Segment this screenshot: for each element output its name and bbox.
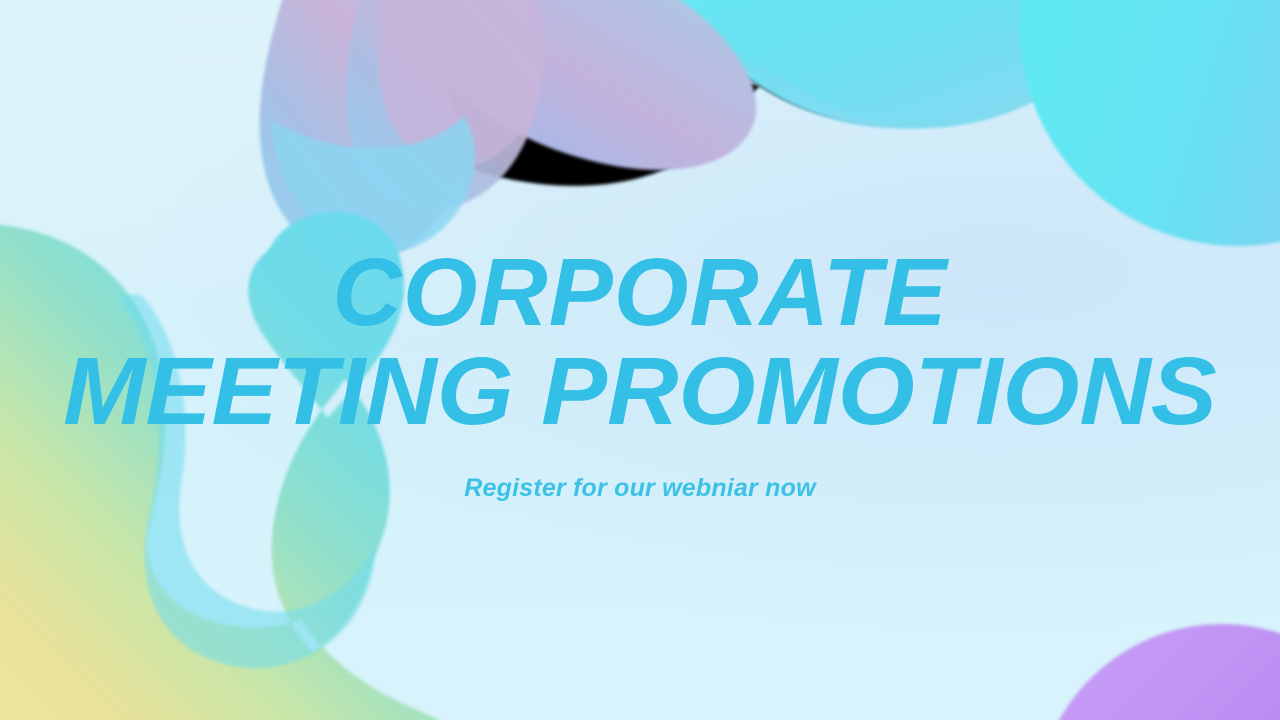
top-lavender-blob-tail — [260, 0, 461, 261]
top-cyan-blob-body — [244, 0, 1146, 129]
promo-banner: CORPORATE MEETING PROMOTIONS Register fo… — [0, 0, 1280, 720]
subtitle-text: Register for our webniar now — [0, 474, 1280, 503]
bottom-right-purple-circle — [1036, 624, 1280, 720]
top-lavender-blob-inner — [346, 0, 540, 208]
top-right-cyan-circle — [1020, 0, 1280, 246]
headline-block: CORPORATE MEETING PROMOTIONS Register fo… — [0, 246, 1280, 503]
top-cyan-blob-lobe — [640, 0, 1148, 127]
headline-line-2: MEETING PROMOTIONS — [0, 345, 1280, 438]
top-lavender-blob-outer — [340, 0, 756, 170]
top-pink-core — [379, 0, 545, 168]
top-lavender-blob-underlobe — [270, 116, 475, 253]
top-cyan-blob-shape — [258, 0, 1144, 186]
headline-line-1: CORPORATE — [0, 246, 1280, 339]
